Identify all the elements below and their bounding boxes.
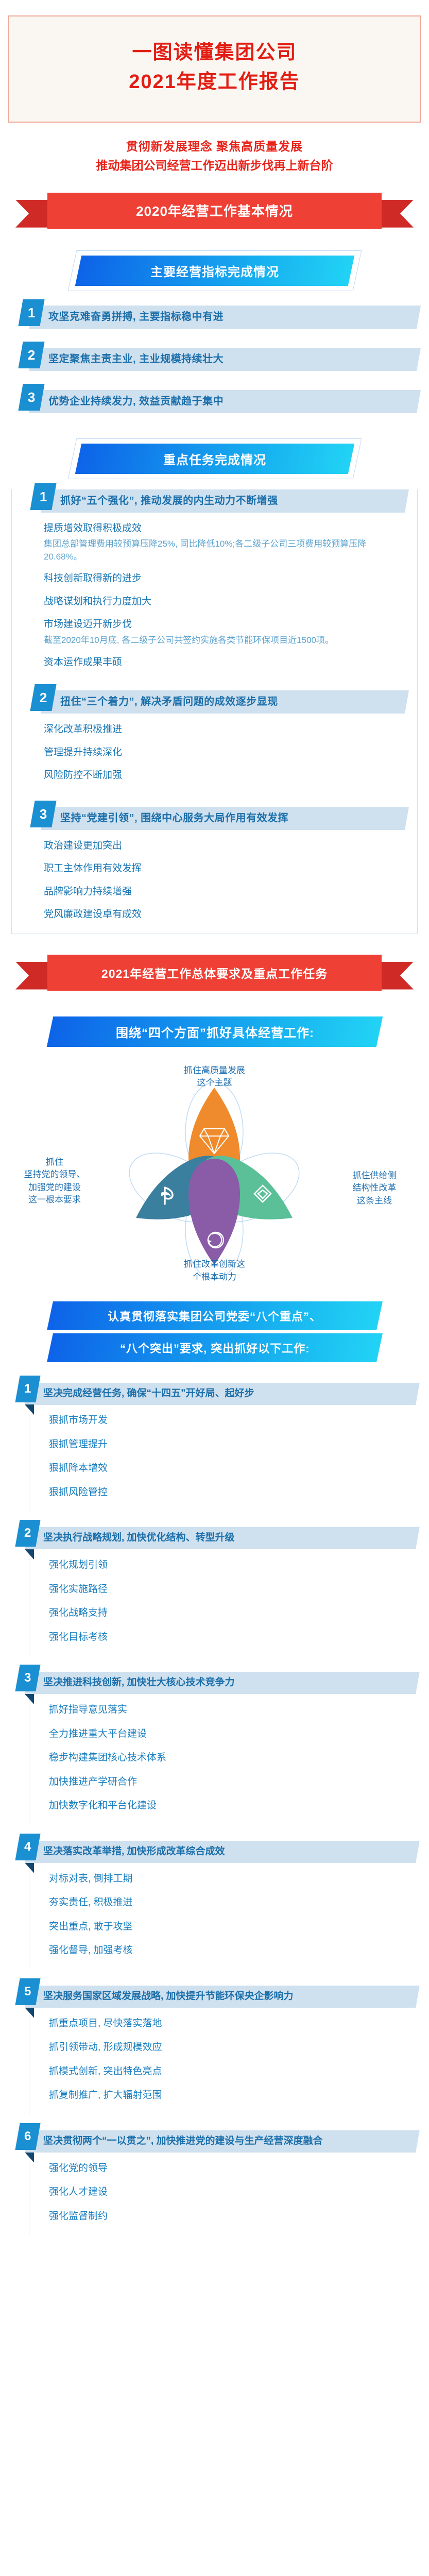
key-tasks-railbox: 1 抓好“五个强化”, 推动发展的内生动力不断增强 提质增效取得积极成效 集团总… — [11, 489, 418, 934]
task-line: 抓重点项目, 尽快落实落地 — [49, 2017, 418, 2031]
detail-head: 风险防控不断加强 — [44, 768, 397, 783]
detail-head: 战略谋划和执行力度加大 — [44, 595, 397, 609]
work-task-5: 5 坚决服务国家区域发展战略, 加快提升节能环保央企影响力 抓重点项目, 尽快落… — [18, 1986, 418, 2115]
indicator-item-1-bar: 攻坚克难奋勇拼搏, 主要指标稳中有进 — [29, 306, 421, 329]
work-task-1-lines: 狠抓市场开发 狠抓管理提升 狠抓降本增效 狠抓风险管控 — [29, 1404, 418, 1512]
subbanner-eight-priorities-line2: “八个突出”要求, 突出抓好以下工作: — [47, 1333, 383, 1362]
badge-text: 5 — [24, 1985, 31, 1999]
task-line: 突出重点, 敢于攻坚 — [49, 1920, 418, 1934]
detail-head: 党风廉政建设卓有成效 — [44, 907, 397, 922]
task-line: 强化监督制约 — [49, 2210, 418, 2224]
key-task-3-label: 坚持“党建引领”, 围绕中心服务大局作用有效发挥 — [60, 811, 288, 825]
work-task-1-label: 坚决完成经营任务, 确保“十四五”开好局、起好步 — [43, 1387, 254, 1401]
ribbon-tail-right — [376, 200, 414, 228]
subbanner-four-aspects: 围绕“四个方面”抓好具体经营工作: — [46, 1016, 383, 1047]
detail-head: 政治建设更加突出 — [44, 839, 397, 854]
key-task-2-label: 扭住“三个着力”, 解决矛盾问题的成效逐步显现 — [60, 695, 278, 709]
work-task-3-lines: 抓好指导意见落实 全力推进重大平台建设 稳步构建集团核心技术体系 加快推进产学研… — [29, 1694, 418, 1825]
work-task-2-bar: 坚决执行战略规划, 加快优化结构、转型升级 — [25, 1527, 420, 1549]
indicator-item-2: 2 坚定聚焦主责主业, 主业规模持续壮大 — [21, 348, 419, 372]
task-line: 强化人才建设 — [49, 2185, 418, 2199]
work-task-4-lines: 对标对表, 倒排工期 夯实责任, 积极推进 突出重点, 敢于攻坚 强化督导, 加… — [29, 1863, 418, 1970]
work-task-6-lines: 强化党的领导 强化人才建设 强化监督制约 — [29, 2153, 418, 2236]
indicator-item-1: 1 攻坚克难奋勇拼搏, 主要指标稳中有进 — [21, 306, 419, 330]
badge-text: 2 — [28, 347, 35, 363]
detail-body: 截至2020年10月底, 各二级子公司共签约实施各类节能环保项目近1500项。 — [44, 634, 397, 647]
task-line: 强化目标考核 — [49, 1631, 418, 1645]
flower-label-right: 抓住供给侧 结构性改革 这条主线 — [328, 1170, 421, 1208]
work-task-6-bar: 坚决贯彻两个“一以贯之”, 加快推进党的建设与生产经营深度融合 — [25, 2130, 420, 2153]
work-task-5-head: 5 坚决服务国家区域发展战略, 加快提升节能环保央企影响力 — [18, 1986, 418, 2008]
badge-text: 3 — [40, 806, 47, 822]
key-task-1-label: 抓好“五个强化”, 推动发展的内生动力不断增强 — [60, 494, 278, 508]
task-line: 抓模式创新, 突出特色亮点 — [49, 2065, 418, 2079]
indicator-item-3: 3 优势企业持续发力, 效益贡献趋于集中 — [21, 390, 419, 415]
key-task-1-details: 提质增效取得积极成效 集团总部管理费用较预算压降25%, 同比降低10%;各二级… — [44, 521, 417, 670]
work-task-5-lines: 抓重点项目, 尽快落实落地 抓引领带动, 形成规模效应 抓模式创新, 突出特色亮… — [29, 2008, 418, 2115]
task-line: 夯实责任, 积极推进 — [49, 1896, 418, 1910]
section-banner-2021-label: 2021年经营工作总体要求及重点工作任务 — [101, 964, 328, 981]
subbanner-main-indicators: 主要经营指标完成情况 — [75, 256, 354, 286]
task-line: 抓引领带动, 形成规模效应 — [49, 2041, 418, 2055]
work-task-2-lines: 强化规划引领 强化实施路径 强化战略支持 强化目标考核 — [29, 1549, 418, 1656]
detail-head: 管理提升持续深化 — [44, 745, 397, 760]
badge-text: 6 — [24, 2129, 31, 2144]
petal-bottom-reform-innovation — [188, 1159, 240, 1265]
work-task-3-head: 3 坚决推进科技创新, 加快壮大核心技术竞争力 — [18, 1672, 418, 1694]
report-title-card: 一图读懂集团公司 2021年度工作报告 — [8, 15, 421, 123]
work-task-2: 2 坚决执行战略规划, 加快优化结构、转型升级 强化规划引领 强化实施路径 强化… — [18, 1527, 418, 1656]
ribbon-tail-right — [376, 962, 414, 990]
work-task-6-head: 6 坚决贯彻两个“一以贯之”, 加快推进党的建设与生产经营深度融合 — [18, 2130, 418, 2153]
detail-head: 资本运作成果丰硕 — [44, 655, 397, 670]
task-line: 稳步构建集团核心技术体系 — [49, 1751, 418, 1765]
section-banner-2020: 2020年经营工作基本情况 — [0, 193, 429, 233]
ribbon-main: 2020年经营工作基本情况 — [47, 193, 382, 229]
work-task-2-label: 坚决执行战略规划, 加快优化结构、转型升级 — [43, 1531, 235, 1545]
ribbon-main: 2021年经营工作总体要求及重点工作任务 — [47, 955, 382, 991]
subbanner-key-tasks: 重点任务完成情况 — [75, 444, 354, 474]
detail-head: 提质增效取得积极成效 — [44, 521, 397, 536]
task-line: 加快推进产学研合作 — [49, 1775, 418, 1789]
badge-text: 4 — [24, 1840, 31, 1854]
subbanner-eight-priorities-line1: 认真贯彻落实集团公司党委“八个重点”、 — [47, 1301, 383, 1330]
slogan-line1: 贯彻新发展理念 聚焦高质量发展 — [4, 137, 425, 156]
task-line: 强化实施路径 — [49, 1583, 418, 1597]
badge-text: 3 — [28, 389, 35, 405]
key-task-2-bar: 扭住“三个着力”, 解决矛盾问题的成效逐步显现 — [41, 690, 409, 714]
slogan-block: 贯彻新发展理念 聚焦高质量发展 推动集团公司经营工作迈出新步伐再上新台阶 — [0, 137, 429, 175]
task-line: 对标对表, 倒排工期 — [49, 1872, 418, 1886]
task-line: 强化党的领导 — [49, 2162, 418, 2176]
key-task-3-details: 政治建设更加突出 职工主体作用有效发挥 品牌影响力持续增强 党风廉政建设卓有成效 — [44, 839, 417, 922]
detail-head: 品牌影响力持续增强 — [44, 885, 397, 900]
task-line: 强化战略支持 — [49, 1606, 418, 1620]
work-task-3-bar: 坚决推进科技创新, 加快壮大核心技术竞争力 — [25, 1672, 420, 1694]
subbanner-key-tasks-label: 重点任务完成情况 — [163, 450, 266, 468]
task-line: 抓复制推广, 扩大辐射范围 — [49, 2089, 418, 2103]
badge-text: 1 — [28, 304, 35, 320]
work-task-6-label: 坚决贯彻两个“一以贯之”, 加快推进党的建设与生产经营深度融合 — [43, 2134, 323, 2148]
work-task-4: 4 坚决落实改革举措, 加快形成改革综合成效 对标对表, 倒排工期 夯实责任, … — [18, 1841, 418, 1970]
key-task-1-bar: 抓好“五个强化”, 推动发展的内生动力不断增强 — [41, 489, 409, 513]
indicator-item-3-label: 优势企业持续发力, 效益贡献趋于集中 — [48, 395, 224, 409]
badge-text: 3 — [24, 1671, 31, 1685]
detail-head: 科技创新取得新的进步 — [44, 571, 397, 586]
flower-label-bottom: 抓住改革创新这 个根本动力 — [184, 1258, 245, 1283]
task-line: 抓好指导意见落实 — [49, 1703, 418, 1717]
subbanner-eight-priorities-line2-label: “八个突出”要求, 突出抓好以下工作: — [119, 1340, 310, 1356]
work-task-3: 3 坚决推进科技创新, 加快壮大核心技术竞争力 抓好指导意见落实 全力推进重大平… — [18, 1672, 418, 1825]
detail-head: 职工主体作用有效发挥 — [44, 861, 397, 876]
page-title-line1: 一图读懂集团公司 — [14, 38, 415, 67]
subbanner-main-indicators-label: 主要经营指标完成情况 — [150, 262, 279, 280]
work-task-5-bar: 坚决服务国家区域发展战略, 加快提升节能环保央企影响力 — [25, 1986, 420, 2008]
flower-label-top: 抓住高质量发展 这个主题 — [184, 1064, 245, 1090]
subbanner-four-aspects-label: 围绕“四个方面”抓好具体经营工作: — [115, 1023, 314, 1041]
task-line: 狠抓降本增效 — [49, 1462, 418, 1476]
flower-label-left: 抓住 坚持党的领导、 加强党的建设 这一根本要求 — [8, 1156, 101, 1207]
badge-text: 1 — [24, 1382, 31, 1396]
section-banner-2020-label: 2020年经营工作基本情况 — [136, 201, 293, 220]
detail-head: 市场建设迈开新步伐 — [44, 617, 397, 632]
key-task-3: 3 坚持“党建引领”, 围绕中心服务大局作用有效发挥 — [32, 807, 407, 832]
indicator-item-2-label: 坚定聚焦主责主业, 主业规模持续壮大 — [48, 352, 224, 366]
key-task-3-bar: 坚持“党建引领”, 围绕中心服务大局作用有效发挥 — [41, 807, 409, 830]
page-title-line2: 2021年度工作报告 — [14, 67, 415, 97]
detail-body: 集团总部管理费用较预算压降25%, 同比降低10%;各二级子公司三项费用较预算压… — [44, 538, 397, 563]
indicator-item-1-label: 攻坚克难奋勇拼搏, 主要指标稳中有进 — [48, 310, 224, 324]
key-task-2-details: 深化改革积极推进 管理提升持续深化 风险防控不断加强 — [44, 722, 417, 783]
badge-text: 1 — [40, 488, 47, 504]
work-task-1-bar: 坚决完成经营任务, 确保“十四五”开好局、起好步 — [25, 1383, 420, 1405]
badge-text: 2 — [40, 690, 47, 706]
work-task-4-bar: 坚决落实改革举措, 加快形成改革综合成效 — [25, 1841, 420, 1863]
work-task-1-head: 1 坚决完成经营任务, 确保“十四五”开好局、起好步 — [18, 1383, 418, 1405]
key-task-1: 1 抓好“五个强化”, 推动发展的内生动力不断增强 — [32, 489, 407, 514]
task-line: 狠抓管理提升 — [49, 1438, 418, 1452]
work-task-6: 6 坚决贯彻两个“一以贯之”, 加快推进党的建设与生产经营深度融合 强化党的领导… — [18, 2130, 418, 2235]
indicator-item-2-bar: 坚定聚焦主责主业, 主业规模持续壮大 — [29, 348, 421, 371]
work-task-3-label: 坚决推进科技创新, 加快壮大核心技术竞争力 — [43, 1676, 235, 1690]
task-line: 加快数字化和平台化建设 — [49, 1799, 418, 1813]
work-task-4-label: 坚决落实改革举措, 加快形成改革综合成效 — [43, 1845, 225, 1859]
work-task-1: 1 坚决完成经营任务, 确保“十四五”开好局、起好步 狠抓市场开发 狠抓管理提升… — [18, 1383, 418, 1512]
task-line: 全力推进重大平台建设 — [49, 1727, 418, 1741]
work-task-4-head: 4 坚决落实改革举措, 加快形成改革综合成效 — [18, 1841, 418, 1863]
subbanner-eight-priorities-line1-label: 认真贯彻落实集团公司党委“八个重点”、 — [108, 1308, 321, 1324]
work-task-2-head: 2 坚决执行战略规划, 加快优化结构、转型升级 — [18, 1527, 418, 1549]
four-aspects-flower-diagram: 抓住高质量发展 这个主题 抓住 坚持党的领导、 加强党的建设 这一根本要求 抓住… — [0, 1050, 429, 1292]
section-banner-2021: 2021年经营工作总体要求及重点工作任务 — [0, 955, 429, 995]
work-task-5-label: 坚决服务国家区域发展战略, 加快提升节能环保央企影响力 — [43, 1990, 294, 2004]
task-line: 狠抓市场开发 — [49, 1414, 418, 1428]
slogan-line2: 推动集团公司经营工作迈出新步伐再上新台阶 — [4, 156, 425, 175]
badge-text: 2 — [24, 1526, 31, 1540]
indicator-item-3-bar: 优势企业持续发力, 效益贡献趋于集中 — [29, 390, 421, 413]
task-line: 强化督导, 加强考核 — [49, 1944, 418, 1958]
task-line: 强化规划引领 — [49, 1558, 418, 1572]
task-line: 狠抓风险管控 — [49, 1486, 418, 1500]
key-task-2: 2 扭住“三个着力”, 解决矛盾问题的成效逐步显现 — [32, 690, 407, 715]
detail-head: 深化改革积极推进 — [44, 722, 397, 737]
